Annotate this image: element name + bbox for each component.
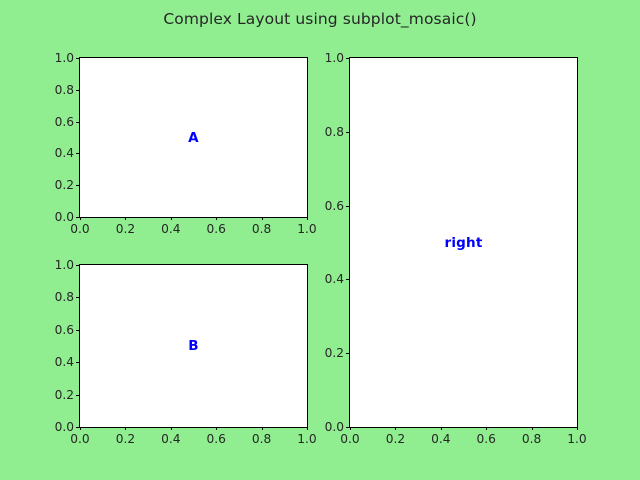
tick-mark-y-b-1 bbox=[76, 395, 80, 396]
tick-mark-y-a-2 bbox=[76, 153, 80, 154]
tick-label-y-b-3: 0.6 bbox=[55, 323, 74, 337]
tick-label-y-a-5: 1.0 bbox=[55, 51, 74, 65]
axes-panel-a[interactable]: A 0.00.20.40.60.81.00.00.20.40.60.81.0 bbox=[79, 57, 308, 218]
matplotlib-figure: Complex Layout using subplot_mosaic() A … bbox=[0, 0, 640, 480]
tick-mark-y-right-2 bbox=[346, 279, 350, 280]
tick-mark-x-a-2 bbox=[171, 217, 172, 221]
tick-label-x-a-4: 0.8 bbox=[252, 222, 271, 236]
tick-label-x-a-2: 0.4 bbox=[161, 222, 180, 236]
tick-mark-y-b-0 bbox=[76, 427, 80, 428]
tick-label-y-b-4: 0.8 bbox=[55, 290, 74, 304]
tick-label-y-right-0: 0.0 bbox=[325, 420, 344, 434]
tick-mark-y-b-3 bbox=[76, 330, 80, 331]
tick-mark-y-a-5 bbox=[76, 58, 80, 59]
tick-mark-x-a-4 bbox=[262, 217, 263, 221]
tick-mark-y-right-5 bbox=[346, 58, 350, 59]
tick-label-x-b-1: 0.2 bbox=[116, 432, 135, 446]
tick-label-y-b-2: 0.4 bbox=[55, 355, 74, 369]
axes-label-right: right bbox=[350, 58, 577, 427]
tick-mark-x-b-5 bbox=[307, 427, 308, 431]
tick-label-y-a-3: 0.6 bbox=[55, 115, 74, 129]
tick-mark-x-right-1 bbox=[395, 427, 396, 431]
tick-mark-y-right-1 bbox=[346, 353, 350, 354]
tick-label-x-a-5: 1.0 bbox=[297, 222, 316, 236]
tick-mark-x-a-1 bbox=[125, 217, 126, 221]
tick-mark-y-b-2 bbox=[76, 362, 80, 363]
tick-mark-x-b-2 bbox=[171, 427, 172, 431]
tick-mark-y-a-4 bbox=[76, 90, 80, 91]
tick-label-x-b-4: 0.8 bbox=[252, 432, 271, 446]
tick-mark-x-b-3 bbox=[216, 427, 217, 431]
tick-mark-y-b-5 bbox=[76, 265, 80, 266]
tick-label-y-a-2: 0.4 bbox=[55, 146, 74, 160]
tick-mark-x-right-4 bbox=[532, 427, 533, 431]
tick-mark-y-right-0 bbox=[346, 427, 350, 428]
axes-panel-right[interactable]: right 0.00.20.40.60.81.00.00.20.40.60.81… bbox=[349, 57, 578, 428]
tick-label-y-right-1: 0.2 bbox=[325, 346, 344, 360]
figure-title: Complex Layout using subplot_mosaic() bbox=[0, 10, 640, 28]
tick-label-x-right-2: 0.4 bbox=[431, 432, 450, 446]
tick-label-y-right-4: 0.8 bbox=[325, 125, 344, 139]
tick-mark-x-b-4 bbox=[262, 427, 263, 431]
tick-label-x-a-3: 0.6 bbox=[206, 222, 225, 236]
tick-label-x-right-1: 0.2 bbox=[386, 432, 405, 446]
tick-label-x-b-0: 0.0 bbox=[70, 432, 89, 446]
tick-mark-y-b-4 bbox=[76, 297, 80, 298]
tick-label-y-a-0: 0.0 bbox=[55, 210, 74, 224]
tick-mark-x-a-3 bbox=[216, 217, 217, 221]
tick-mark-x-right-0 bbox=[350, 427, 351, 431]
tick-label-y-right-3: 0.6 bbox=[325, 199, 344, 213]
tick-mark-x-right-5 bbox=[577, 427, 578, 431]
tick-mark-y-a-3 bbox=[76, 122, 80, 123]
tick-mark-x-a-5 bbox=[307, 217, 308, 221]
tick-mark-y-right-4 bbox=[346, 132, 350, 133]
tick-mark-y-a-0 bbox=[76, 217, 80, 218]
tick-label-y-b-0: 0.0 bbox=[55, 420, 74, 434]
tick-label-y-a-4: 0.8 bbox=[55, 83, 74, 97]
tick-mark-x-right-2 bbox=[441, 427, 442, 431]
tick-mark-x-b-0 bbox=[80, 427, 81, 431]
tick-label-x-b-2: 0.4 bbox=[161, 432, 180, 446]
axes-label-a: A bbox=[80, 58, 307, 217]
tick-label-y-a-1: 0.2 bbox=[55, 178, 74, 192]
axes-panel-b[interactable]: B 0.00.20.40.60.81.00.00.20.40.60.81.0 bbox=[79, 264, 308, 428]
tick-label-x-a-1: 0.2 bbox=[116, 222, 135, 236]
tick-label-y-right-5: 1.0 bbox=[325, 51, 344, 65]
tick-mark-x-a-0 bbox=[80, 217, 81, 221]
tick-mark-y-a-1 bbox=[76, 185, 80, 186]
tick-mark-x-right-3 bbox=[486, 427, 487, 431]
tick-label-x-a-0: 0.0 bbox=[70, 222, 89, 236]
tick-label-x-b-3: 0.6 bbox=[206, 432, 225, 446]
axes-label-b: B bbox=[80, 265, 307, 427]
tick-label-x-b-5: 1.0 bbox=[297, 432, 316, 446]
tick-label-y-right-2: 0.4 bbox=[325, 272, 344, 286]
tick-label-x-right-4: 0.8 bbox=[522, 432, 541, 446]
tick-mark-y-right-3 bbox=[346, 206, 350, 207]
tick-label-y-b-1: 0.2 bbox=[55, 388, 74, 402]
tick-label-y-b-5: 1.0 bbox=[55, 258, 74, 272]
tick-mark-x-b-1 bbox=[125, 427, 126, 431]
tick-label-x-right-5: 1.0 bbox=[567, 432, 586, 446]
tick-label-x-right-0: 0.0 bbox=[340, 432, 359, 446]
tick-label-x-right-3: 0.6 bbox=[476, 432, 495, 446]
